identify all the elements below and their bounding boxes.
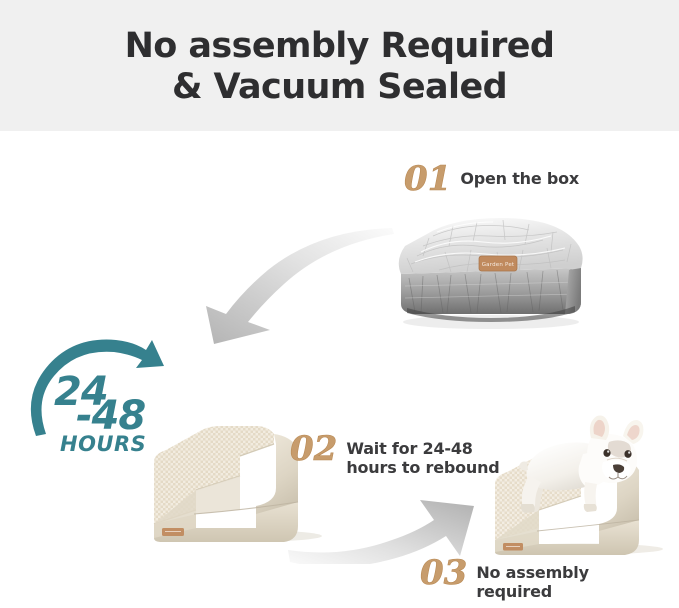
svg-text:Garden Pet: Garden Pet bbox=[482, 262, 515, 268]
step-03-text: No assembly required bbox=[467, 556, 589, 601]
page-title: No assembly Required & Vacuum Sealed bbox=[0, 26, 679, 108]
vacuum-sealed-package-illustration: Garden Pet bbox=[393, 212, 589, 330]
step-01-text: Open the box bbox=[451, 162, 579, 188]
step-01-number: 01 bbox=[404, 162, 451, 196]
step-02-text: Wait for 24-48 hours to rebound bbox=[337, 432, 499, 477]
step-02-label: 02 Wait for 24-48 hours to rebound bbox=[290, 432, 500, 477]
step-02-number: 02 bbox=[290, 432, 337, 466]
pet-stairs-with-dog-illustration bbox=[487, 404, 673, 556]
stairs-brand-tag-2 bbox=[503, 543, 523, 551]
page-title-line1: No assembly Required bbox=[125, 26, 555, 66]
arrow-step1-to-step2 bbox=[178, 228, 398, 351]
infographic-page: No assembly Required & Vacuum Sealed bbox=[0, 0, 679, 608]
step-03-number: 03 bbox=[420, 556, 467, 590]
page-title-line2: & Vacuum Sealed bbox=[0, 67, 679, 108]
stairs-brand-tag bbox=[162, 528, 184, 536]
package-brand-label: Garden Pet bbox=[479, 256, 517, 271]
step-03-label: 03 No assembly required bbox=[420, 556, 589, 601]
step-01-label: 01 Open the box bbox=[404, 162, 579, 196]
header-band: No assembly Required & Vacuum Sealed bbox=[0, 0, 679, 131]
